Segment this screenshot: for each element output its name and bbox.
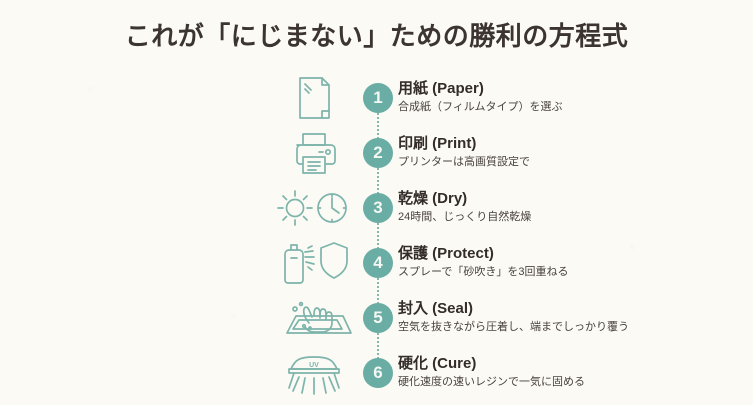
- printer-icon: [270, 125, 358, 180]
- step-title: 硬化 (Cure): [398, 355, 585, 374]
- hand-pressing-laminate-icon: [270, 290, 358, 345]
- status-badge: 6: [363, 358, 393, 388]
- step-badge-wrap: 6: [358, 345, 398, 400]
- step-description: スプレーで「砂吹き」を3回重ねる: [398, 266, 568, 280]
- step-description: 空気を抜きながら圧着し、端までしっかり覆う: [398, 321, 629, 335]
- status-badge: 5: [363, 303, 393, 333]
- sun-and-clock-icon: [270, 180, 358, 235]
- step-text: 硬化 (Cure) 硬化速度の速いレジンで一気に固める: [398, 345, 585, 400]
- step-badge-wrap: 3: [358, 180, 398, 235]
- step-title: 印刷 (Print): [398, 135, 530, 154]
- list-item[interactable]: 2 印刷 (Print) プリンターは高画質設定で: [0, 125, 753, 180]
- step-description: プリンターは高画質設定で: [398, 156, 530, 170]
- step-description: 硬化速度の速いレジンで一気に固める: [398, 376, 585, 390]
- document-sheet-icon: [270, 70, 358, 125]
- status-badge: 4: [363, 248, 393, 278]
- step-text: 印刷 (Print) プリンターは高画質設定で: [398, 125, 530, 180]
- spray-can-and-shield-icon: [270, 235, 358, 290]
- step-title: 保護 (Protect): [398, 245, 568, 264]
- status-badge: 3: [363, 193, 393, 223]
- step-text: 保護 (Protect) スプレーで「砂吹き」を3回重ねる: [398, 235, 568, 290]
- step-description: 合成紙（フィルムタイプ）を選ぶ: [398, 101, 563, 115]
- list-item[interactable]: UV 6 硬化 (Cure) 硬化速度の速いレジンで一気に固める: [0, 345, 753, 400]
- uv-lamp-label: UV: [309, 362, 319, 369]
- step-description: 24時間、じっくり自然乾燥: [398, 211, 531, 225]
- step-text: 封入 (Seal) 空気を抜きながら圧着し、端までしっかり覆う: [398, 290, 629, 345]
- step-badge-wrap: 5: [358, 290, 398, 345]
- uv-lamp-icon: UV: [270, 345, 358, 400]
- step-badge-wrap: 2: [358, 125, 398, 180]
- step-list: 1 用紙 (Paper) 合成紙（フィルムタイプ）を選ぶ: [0, 70, 753, 405]
- status-badge: 2: [363, 138, 393, 168]
- step-title: 用紙 (Paper): [398, 80, 563, 99]
- page-title: これが「にじまない」ための勝利の方程式: [0, 16, 753, 53]
- step-text: 用紙 (Paper) 合成紙（フィルムタイプ）を選ぶ: [398, 70, 563, 125]
- list-item[interactable]: 4 保護 (Protect) スプレーで「砂吹き」を3回重ねる: [0, 235, 753, 290]
- step-badge-wrap: 4: [358, 235, 398, 290]
- list-item[interactable]: 5 封入 (Seal) 空気を抜きながら圧着し、端までしっかり覆う: [0, 290, 753, 345]
- infographic-poster: これが「にじまない」ための勝利の方程式 1 用紙 (Pape: [0, 0, 753, 405]
- step-title: 封入 (Seal): [398, 300, 629, 319]
- step-badge-wrap: 1: [358, 70, 398, 125]
- step-title: 乾燥 (Dry): [398, 190, 531, 209]
- step-text: 乾燥 (Dry) 24時間、じっくり自然乾燥: [398, 180, 531, 235]
- list-item[interactable]: 3 乾燥 (Dry) 24時間、じっくり自然乾燥: [0, 180, 753, 235]
- status-badge: 1: [363, 83, 393, 113]
- list-item[interactable]: 1 用紙 (Paper) 合成紙（フィルムタイプ）を選ぶ: [0, 70, 753, 125]
